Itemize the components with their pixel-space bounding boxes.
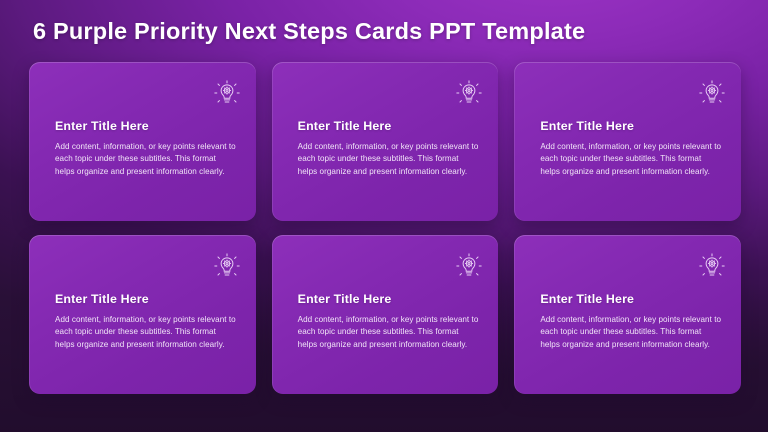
card-description: Add content, information, or key points … [540,314,723,351]
card-description: Add content, information, or key points … [55,141,238,178]
card-title: Enter Title Here [298,292,481,306]
card-description: Add content, information, or key points … [540,141,723,178]
card-body: Enter Title Here Add content, informatio… [540,119,723,178]
card-body: Enter Title Here Add content, informatio… [298,119,481,178]
card-description: Add content, information, or key points … [298,314,481,351]
card-body: Enter Title Here Add content, informatio… [55,119,238,178]
card-body: Enter Title Here Add content, informatio… [540,292,723,351]
card-4[interactable]: Enter Title Here Add content, informatio… [29,235,256,394]
lightbulb-gear-icon [212,251,242,281]
card-5[interactable]: Enter Title Here Add content, informatio… [272,235,499,394]
card-1[interactable]: Enter Title Here Add content, informatio… [29,62,256,221]
page-title: 6 Purple Priority Next Steps Cards PPT T… [33,18,585,45]
card-title: Enter Title Here [55,292,238,306]
card-3[interactable]: Enter Title Here Add content, informatio… [514,62,741,221]
card-description: Add content, information, or key points … [55,314,238,351]
lightbulb-gear-icon [212,78,242,108]
card-title: Enter Title Here [55,119,238,133]
lightbulb-gear-icon [697,251,727,281]
lightbulb-gear-icon [454,78,484,108]
lightbulb-gear-icon [454,251,484,281]
card-title: Enter Title Here [540,119,723,133]
card-title: Enter Title Here [298,119,481,133]
card-6[interactable]: Enter Title Here Add content, informatio… [514,235,741,394]
cards-grid: Enter Title Here Add content, informatio… [29,62,741,394]
card-body: Enter Title Here Add content, informatio… [55,292,238,351]
card-body: Enter Title Here Add content, informatio… [298,292,481,351]
card-title: Enter Title Here [540,292,723,306]
lightbulb-gear-icon [697,78,727,108]
card-description: Add content, information, or key points … [298,141,481,178]
slide-canvas: 6 Purple Priority Next Steps Cards PPT T… [0,0,768,432]
card-2[interactable]: Enter Title Here Add content, informatio… [272,62,499,221]
